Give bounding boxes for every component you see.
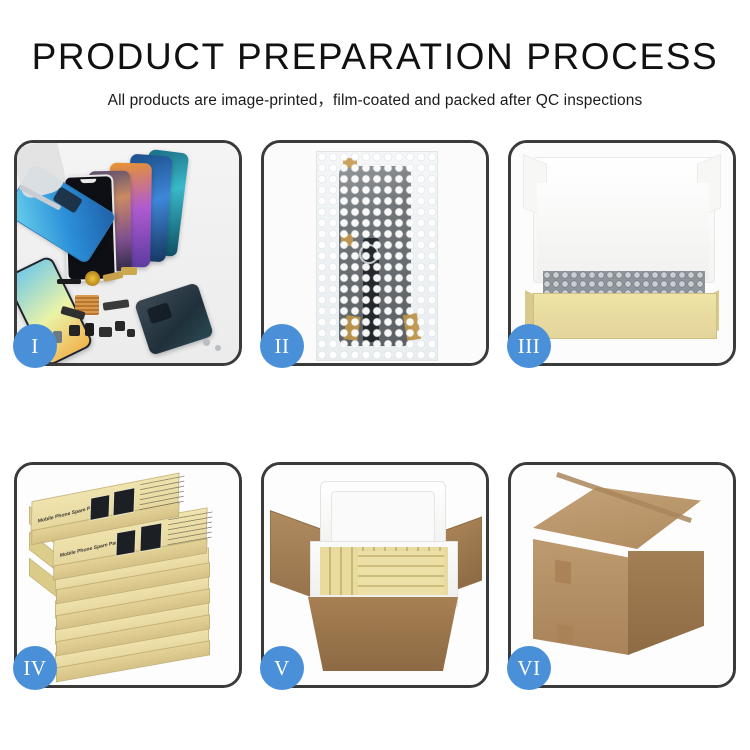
flex-cable-part-4 <box>103 299 130 311</box>
box-thumbnail-2b <box>139 522 162 552</box>
step-panel-1: I <box>14 140 242 366</box>
step-panel-2: II <box>261 140 489 366</box>
screw-part-2 <box>215 345 221 351</box>
speaker-part <box>85 271 100 286</box>
step-badge-5: V <box>260 646 304 690</box>
component-part-2 <box>85 323 94 336</box>
packed-boxes-row-2 <box>358 551 444 595</box>
step-panel-6: VI <box>508 462 736 688</box>
box-thumbnail-2a <box>115 529 136 557</box>
page-subtitle: All products are image-printed，film-coat… <box>0 88 750 110</box>
product-preparation-infographic: PRODUCT PREPARATION PROCESS All products… <box>0 0 750 750</box>
bubble-texture <box>317 152 437 360</box>
screw-part-1 <box>203 339 210 346</box>
step-badge-6: VI <box>507 646 551 690</box>
box-thumbnail-1a <box>89 494 110 521</box>
carton-tape-upper <box>555 560 571 585</box>
step-panel-3: III <box>508 140 736 366</box>
foam-lid-inner <box>331 491 435 543</box>
step-panel-4: Mobile Phone Spare Parts Mobile Phone Sp… <box>14 462 242 688</box>
step-panel-5: V <box>261 462 489 688</box>
component-part-6 <box>127 329 135 337</box>
carton-body <box>308 597 458 671</box>
antenna-strip-part <box>57 279 81 284</box>
step-badge-4: IV <box>13 646 57 690</box>
foam-sheet <box>537 183 709 281</box>
box-thumbnail-1b <box>112 487 135 516</box>
step-badge-3: III <box>507 324 551 368</box>
carton-front-face <box>533 539 629 655</box>
bubble-wrap-bag <box>316 151 438 361</box>
carton-tape-lower <box>557 624 573 645</box>
component-part-4 <box>115 321 125 331</box>
step-badge-1: I <box>13 324 57 368</box>
phone-back-housing <box>134 282 214 356</box>
step-badge-2: II <box>260 324 304 368</box>
flex-cable-part-2 <box>121 267 137 275</box>
carton-side-face <box>628 551 704 655</box>
page-title: PRODUCT PREPARATION PROCESS <box>0 38 750 77</box>
box-stack: Mobile Phone Spare Parts Mobile Phone Sp… <box>25 483 237 673</box>
component-part-3 <box>99 327 112 337</box>
process-steps-grid: I II <box>14 140 736 688</box>
header: PRODUCT PREPARATION PROCESS All products… <box>0 0 750 110</box>
component-part-1 <box>69 325 80 336</box>
box-base-kraft <box>533 293 717 339</box>
